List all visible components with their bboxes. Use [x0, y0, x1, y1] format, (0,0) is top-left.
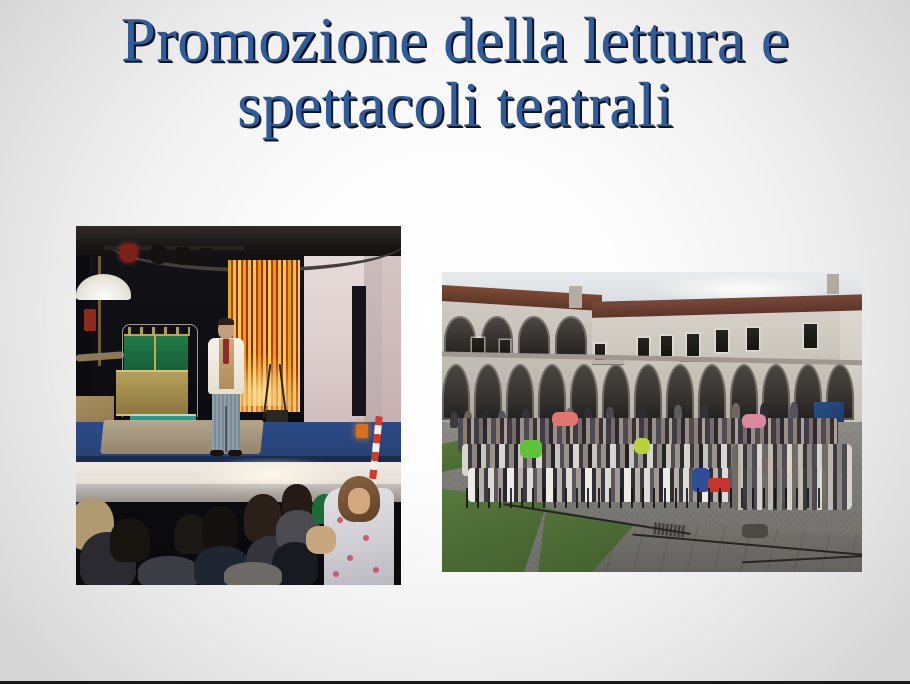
stage-carpet — [100, 420, 264, 454]
cloud — [652, 274, 832, 300]
hall-wall-right — [304, 226, 364, 471]
audience-child-5-body — [276, 510, 320, 550]
window-upper-b — [500, 340, 510, 354]
arch-lower-12 — [794, 364, 822, 420]
arcade-person-5 — [522, 409, 530, 427]
stage-ceiling — [76, 226, 401, 256]
equipment-bag — [742, 524, 768, 538]
lower-arcade — [442, 364, 854, 420]
arcade-person-12 — [732, 403, 740, 421]
page-title: Promozione della lettura e spettacoli te… — [0, 8, 910, 138]
audience-child-orange-shirt — [784, 456, 800, 474]
audience-back-row — [458, 418, 838, 452]
grass-lawn-left — [442, 477, 547, 572]
arch-lower-9 — [698, 364, 726, 420]
window-right-1 — [595, 344, 605, 362]
window-right-3 — [661, 336, 672, 356]
easel-leg-right — [279, 364, 288, 418]
audience-child-5 — [282, 484, 312, 518]
audience-red-bag — [708, 478, 730, 492]
window-right-2 — [638, 338, 649, 358]
standing-girl-cardigan — [324, 488, 394, 585]
hall-floor — [76, 462, 401, 502]
arch-lower-10 — [730, 364, 758, 420]
window-upper-a — [472, 338, 484, 354]
arch-lower-5 — [570, 364, 598, 420]
arch-lower-11 — [762, 364, 790, 420]
audience-adult-body — [80, 532, 136, 585]
arch-lower-3 — [506, 364, 534, 420]
stone-path — [473, 450, 832, 506]
performer-trousers — [212, 390, 240, 452]
red-lantern-prop — [84, 309, 96, 331]
stage-cable-2 — [632, 534, 862, 557]
performer-leg-split — [225, 406, 227, 452]
trunk-hooks — [128, 327, 190, 336]
arcade-cornice — [442, 351, 862, 365]
audience-child-4-body — [246, 536, 296, 585]
arcade-person-7 — [584, 408, 592, 426]
arcade-person-1 — [450, 412, 458, 428]
arcade-person-6 — [566, 408, 574, 426]
arcade-person-14 — [790, 402, 798, 420]
arch-upper-1 — [444, 316, 476, 356]
audience-pink-shirt-person — [552, 412, 578, 426]
child-audience-group — [76, 484, 401, 585]
standing-girl-hair — [338, 476, 380, 522]
wooden-crate-prop — [76, 396, 114, 466]
arch-lower-4 — [538, 364, 566, 420]
easel-leg-left — [263, 364, 272, 418]
arch-upper-4 — [555, 316, 587, 356]
cloister-wall-far-right — [840, 302, 862, 432]
photo-outdoor-courtyard-audience — [442, 272, 862, 572]
window-right-7 — [804, 324, 817, 348]
cloister-wall-right — [592, 306, 862, 443]
arcade-person-4 — [498, 411, 506, 428]
arch-lower-8 — [666, 364, 694, 420]
stage-back-curtain — [90, 248, 305, 466]
performer-vest — [219, 339, 234, 389]
standing-girl-hand — [306, 526, 336, 554]
presentation-slide: Promozione della lettura e spettacoli te… — [0, 0, 910, 684]
arcade-person-13 — [760, 403, 768, 421]
lamp-pole — [98, 256, 101, 366]
audience-blue-top-person — [692, 468, 710, 492]
standing-girl-face — [348, 488, 370, 514]
audience-child-1-body — [138, 556, 200, 585]
stage-spotlight-3 — [198, 248, 215, 266]
chimney-right — [827, 274, 839, 294]
arcade-person-10 — [674, 405, 682, 423]
cardigan-heart-pattern — [328, 508, 388, 582]
white-lampshade-prop — [76, 274, 131, 300]
hall-wall-right-secondary — [364, 226, 386, 476]
green-trunk — [124, 334, 188, 372]
arcade-person-9 — [638, 406, 646, 424]
grass-patch-upper-left — [442, 434, 488, 472]
trunk-rack-frame — [122, 324, 198, 417]
gravel-texture — [442, 422, 862, 572]
teal-trunk — [130, 414, 196, 452]
arcade-person-11 — [700, 404, 708, 422]
performer-white-shirt — [208, 338, 244, 394]
wall-speaker — [352, 286, 366, 416]
ceiling-arch — [106, 226, 401, 272]
title-line-2: spettacoli teatrali — [0, 73, 910, 137]
floor-light-pool — [196, 458, 346, 492]
audience-child-red-shirt — [760, 458, 776, 476]
stage-front-edge — [76, 456, 401, 463]
audience-child-4 — [244, 494, 282, 542]
easel-case — [266, 410, 288, 426]
arch-lower-6 — [602, 364, 630, 420]
drain-grate — [653, 522, 686, 537]
information-board — [814, 402, 844, 424]
stage-dark-background — [76, 226, 401, 585]
stage-spotlight-2 — [174, 247, 191, 265]
arch-lower-7 — [634, 364, 662, 420]
performer-hair — [218, 318, 234, 325]
audience-child-7 — [224, 562, 282, 585]
chair-legs-row — [466, 488, 826, 508]
backdrop-light-glow — [236, 354, 298, 406]
arch-upper-3 — [518, 316, 550, 356]
blue-stage-floor — [76, 422, 401, 468]
audience-lime-shirt-person — [634, 438, 650, 454]
stage-spotlight-1 — [150, 246, 167, 264]
stage-spotlight-red — [120, 244, 137, 262]
audience-right-cluster — [732, 444, 852, 510]
grass-lawn-center — [538, 504, 668, 572]
arch-lower-13 — [826, 364, 854, 420]
audience-child-3-body — [194, 546, 250, 585]
audience-adult-blond — [76, 498, 114, 550]
arch-lower-2 — [474, 364, 502, 420]
window-right-6 — [747, 328, 759, 350]
stage-cable-3 — [742, 555, 862, 564]
audience-child-1 — [110, 518, 150, 562]
striped-backdrop — [228, 260, 300, 412]
performer-head — [218, 320, 234, 339]
gold-trunk — [116, 370, 188, 416]
performer-shoe-left — [210, 450, 224, 456]
audience-child-3 — [202, 506, 238, 550]
upper-arcade-left — [444, 316, 587, 356]
wooden-shelf-prop — [76, 351, 124, 361]
audience-child-2 — [174, 514, 208, 554]
arcade-person-8 — [606, 407, 614, 425]
window-right-4 — [687, 334, 699, 356]
arch-lower-1 — [442, 364, 470, 420]
audience-green-shirt-person — [520, 440, 542, 458]
arch-upper-2 — [481, 316, 513, 356]
audience-middle-row — [462, 444, 842, 476]
chimney-center — [569, 286, 582, 308]
balcony-left — [592, 360, 624, 364]
lighting-truss — [104, 246, 244, 250]
window-right-5 — [716, 330, 728, 352]
hall-wall-far-right — [382, 226, 401, 476]
audience-pink-person-right — [742, 414, 766, 428]
arcade-person-3 — [482, 410, 490, 428]
evening-sky — [442, 272, 862, 318]
red-white-safety-pole — [368, 416, 382, 488]
title-line-1: Promozione della lettura e — [0, 8, 910, 72]
balcony-right — [680, 357, 710, 361]
orange-lantern — [356, 424, 368, 438]
courtyard-ground — [442, 422, 862, 572]
cloister-wall-left — [442, 297, 600, 436]
audience-child-6 — [272, 542, 318, 585]
audience-child-green-shirt — [312, 494, 338, 524]
performer-tie — [223, 338, 229, 364]
performer-shoe-right — [228, 450, 242, 456]
photo-indoor-theatre-performance — [76, 226, 401, 585]
terracotta-roof-right — [592, 294, 862, 318]
stone-paving — [592, 520, 862, 572]
stage-cable-1 — [503, 503, 691, 535]
arcade-person-2 — [464, 411, 472, 428]
audience-front-row — [468, 468, 828, 502]
terracotta-roof-left — [442, 285, 602, 311]
